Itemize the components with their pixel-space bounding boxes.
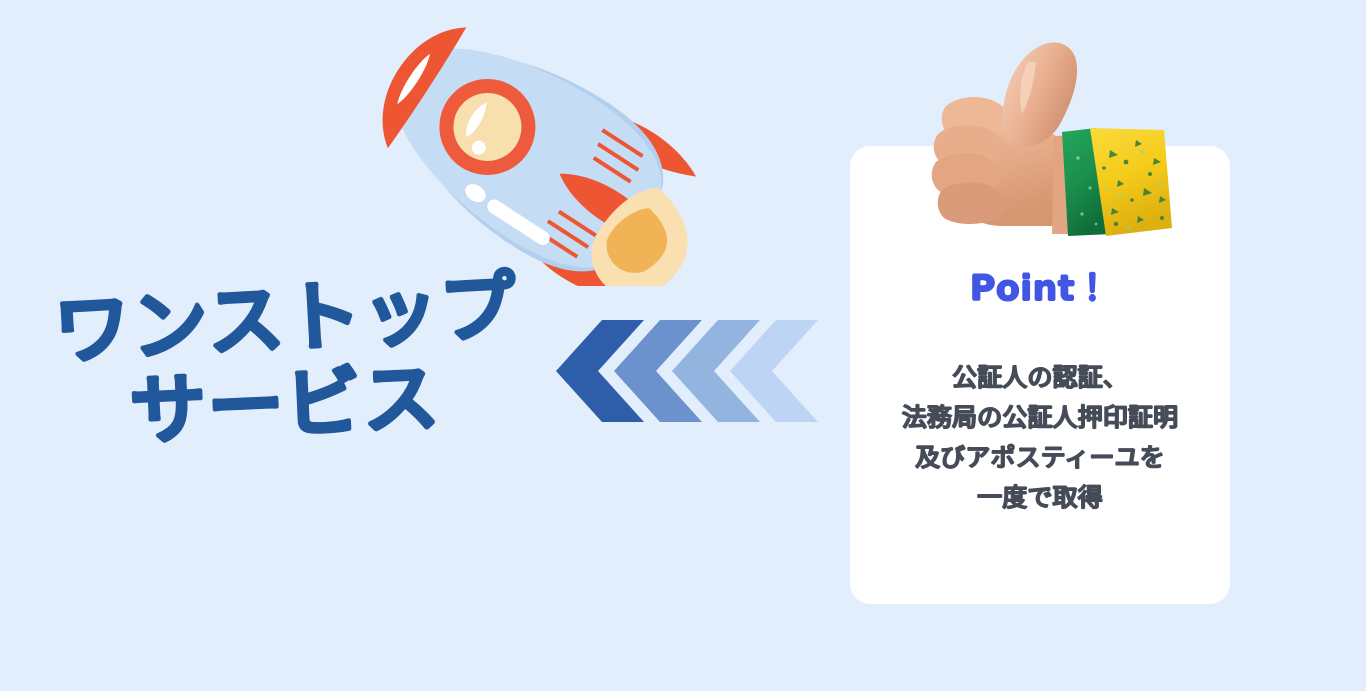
rocket-icon [330, 18, 722, 286]
chevrons-left-icon [556, 316, 824, 426]
page-title: ワンストップ サービス [46, 268, 606, 448]
rocket-illustration [330, 18, 722, 286]
point-card-body-line: 及びアポスティーユを [850, 438, 1230, 478]
point-card-body-line: 公証人の認証、 [850, 358, 1230, 398]
thumbs-up-icon [906, 28, 1178, 240]
slide-canvas: ワンストップ サービス Point！ 公証人の認証、 法務局の公証人押印証明 及… [0, 0, 1366, 691]
point-card-body: 公証人の認証、 法務局の公証人押印証明 及びアポスティーユを 一度で取得 [850, 358, 1230, 518]
arrow-group [556, 316, 824, 426]
headline-line-2: サービス [128, 336, 443, 460]
hand-finger-4 [938, 183, 1004, 225]
point-card-title: Point！ [850, 260, 1230, 311]
thumbs-up-illustration [906, 28, 1178, 240]
point-card-body-line: 法務局の公証人押印証明 [850, 398, 1230, 438]
point-card-body-line: 一度で取得 [850, 478, 1230, 518]
hand-thumb [1002, 42, 1077, 147]
